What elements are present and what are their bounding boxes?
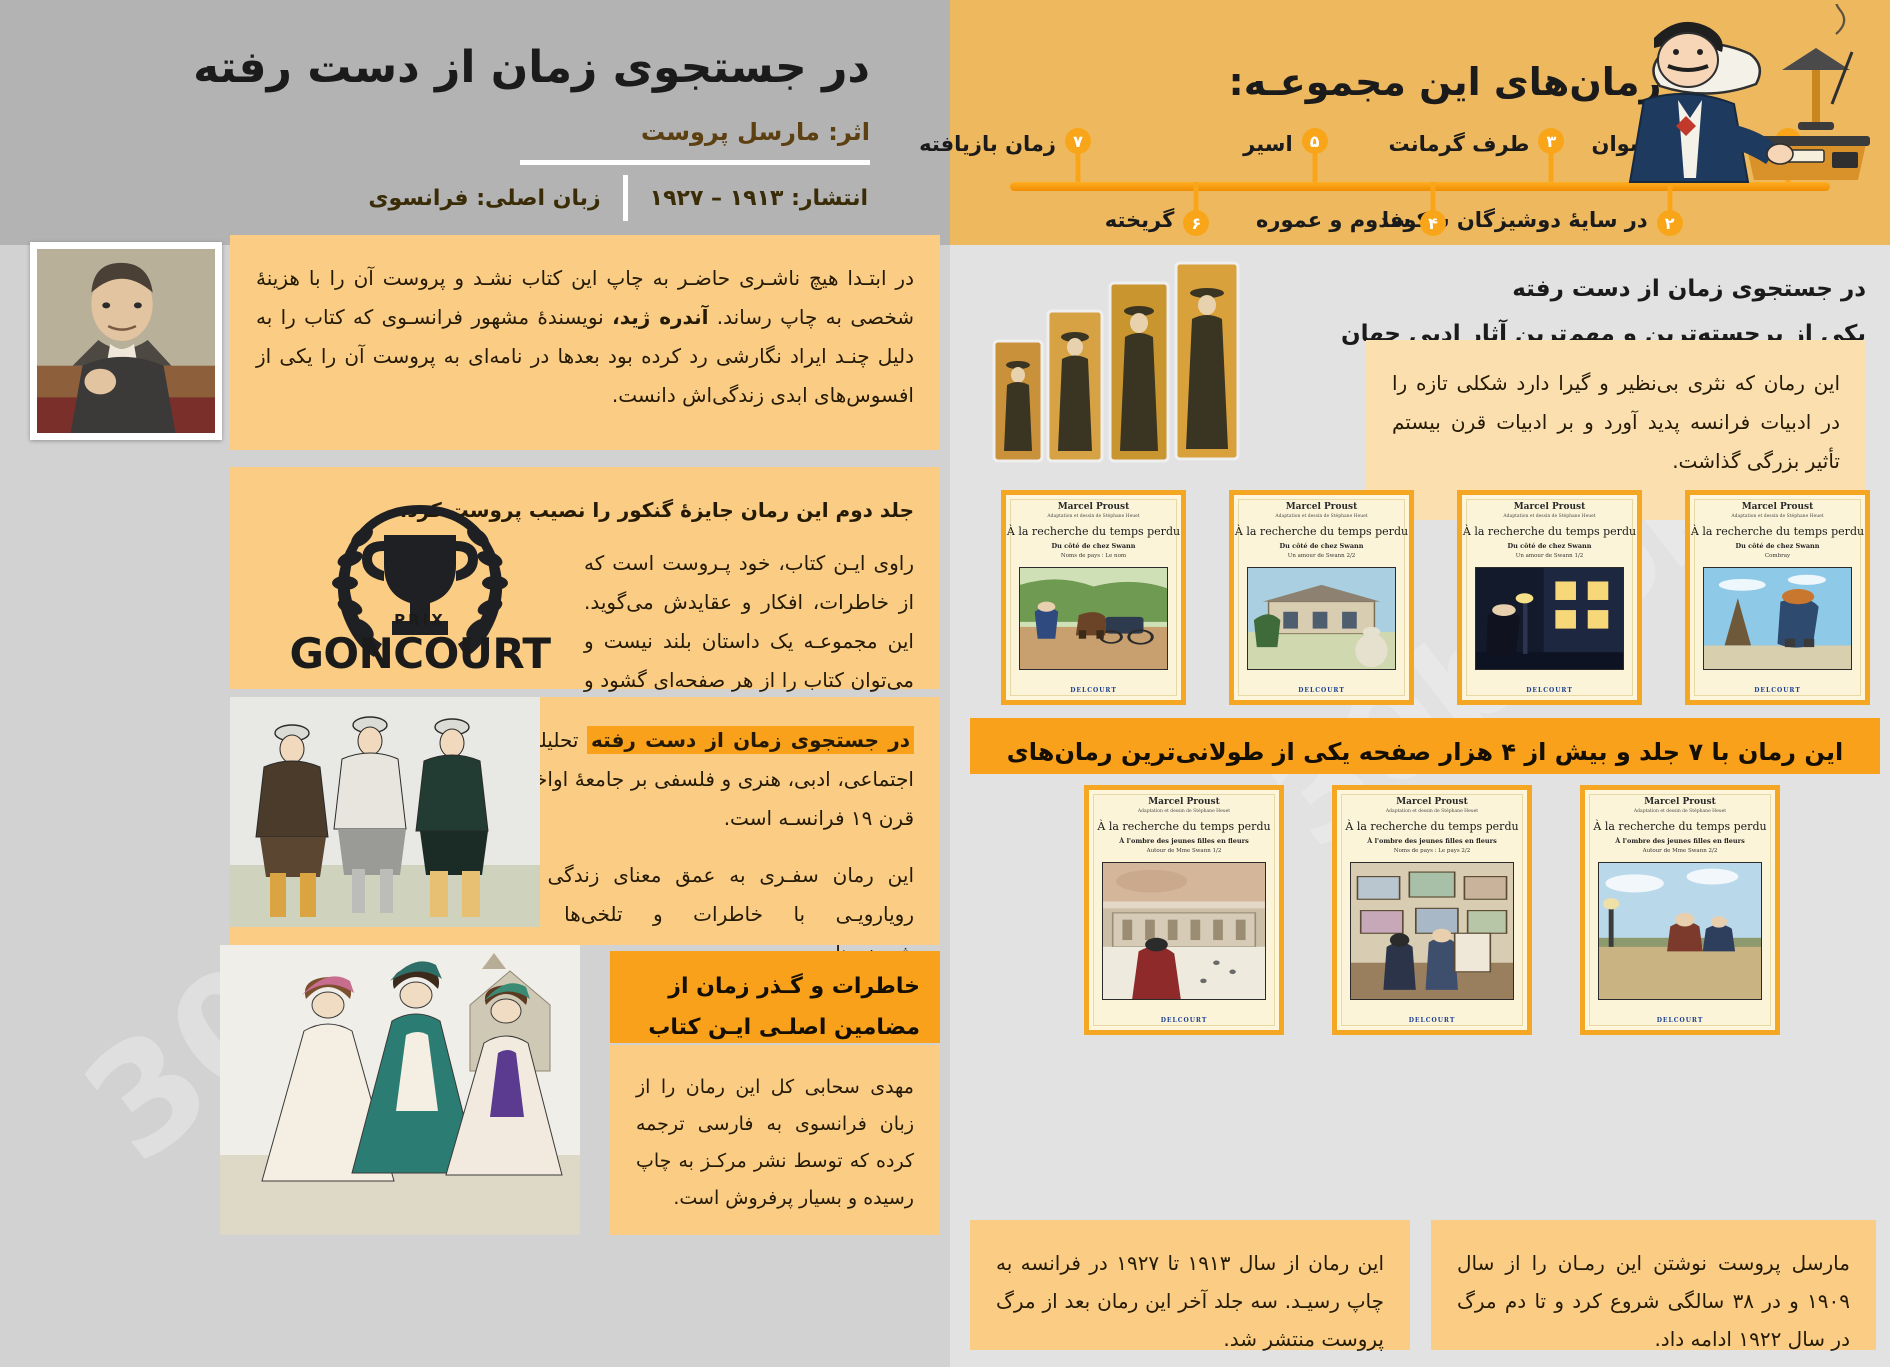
timeline-stem [1312,152,1317,182]
cover-credit: Adaptation et dessin de Stéphane Heuet [1006,514,1181,519]
author-label: اثر: مارسل پروست [180,118,870,146]
timeline-stem [1194,182,1199,212]
cover-publisher-logo: DELCOURT [1089,1017,1279,1024]
cover-subtitle: Du côté de chez Swann [1006,542,1181,550]
proust-figures-strip [970,245,1270,475]
cover-artwork [1102,862,1266,1000]
timeline-stem [1431,182,1436,212]
timeline-label: طرف گرمانت [1389,132,1530,156]
cover-subtitle: À l'ombre des jeunes filles en fleurs [1337,837,1527,845]
intro-line-1: در جستجوی زمان از دست رفته [1306,267,1866,312]
cover-author: Marcel Proust [1089,797,1279,807]
cover-publisher-logo: DELCOURT [1234,687,1409,694]
cover-publisher-logo: DELCOURT [1006,687,1181,694]
victorian-ladies-engraving [220,945,580,1235]
andre-gide-photo [30,242,222,440]
translator-card: مهدی سحابی کل این رمان را از زبان فرانسو… [610,1045,940,1235]
book-cover[interactable]: Marcel ProustAdaptation et dessin de Sté… [1084,785,1284,1035]
cover-artwork [1598,862,1762,1000]
cover-credit: Adaptation et dessin de Stéphane Heuet [1337,809,1527,814]
cover-volume: Un amour de Swann 1/2 [1462,553,1637,559]
theme-title-highlight: در جستجوی زمان از دست رفته [587,726,914,754]
cover-volume: Autour de Mme Swann 2/2 [1585,848,1775,854]
length-banner: این رمان با ۷ جلد و بیش از ۴ هزار صفحه ی… [970,718,1880,774]
meta-row: انتشار: ۱۹۱۳ – ۱۹۲۷ زبان اصلی: فرانسوی [346,170,890,226]
timeline-label: گریخته [1105,208,1175,232]
portrait-illustration [37,249,215,433]
cover-publisher-logo: DELCOURT [1337,1017,1527,1024]
cover-artwork [1019,567,1168,670]
infographic-page: رمان‌های این مجموعـه: ۱طرف خانه سوان۲در … [0,0,1890,1367]
cover-author: Marcel Proust [1690,502,1865,512]
book-cover[interactable]: Marcel ProustAdaptation et dessin de Sté… [1457,490,1642,705]
cover-subtitle: Du côté de chez Swann [1234,542,1409,550]
meta-separator [623,175,628,221]
cover-publisher-logo: DELCOURT [1462,687,1637,694]
publication-history-card: در ابتـدا هیچ ناشـری حاضـر به چاپ این کت… [230,235,940,450]
cover-artwork [1247,567,1396,670]
cover-volume: Un amour de Swann 2/2 [1234,553,1409,559]
timeline-label: سدوم و عموره [1256,208,1411,232]
cover-title: À la recherche du temps perdu [1690,525,1865,538]
left-column: 30book در ابتـدا هیچ ناشـری حاضـر به چاپ… [0,245,950,1367]
goncourt-emblem: PRIX GONCOURT [270,483,570,683]
cover-title: À la recherche du temps perdu [1337,820,1527,833]
title-divider [520,160,870,165]
timeline-number-badge: ۷ [1065,128,1091,154]
cover-author: Marcel Proust [1234,502,1409,512]
cover-title: À la recherche du temps perdu [1585,820,1775,833]
cover-title: À la recherche du temps perdu [1006,525,1181,538]
cover-title: À la recherche du temps perdu [1462,525,1637,538]
publication-years-box: این رمان از سال ۱۹۱۳ تا ۱۹۲۷ در فرانسه ب… [970,1220,1410,1350]
cover-artwork [1475,567,1624,670]
cover-subtitle: À l'ombre des jeunes filles en fleurs [1585,837,1775,845]
goncourt-name-label: GONCOURT [270,629,570,678]
cover-author: Marcel Proust [1462,502,1637,512]
cover-author: Marcel Proust [1585,797,1775,807]
cover-artwork [1350,862,1514,1000]
cover-volume: Noms de pays : Le pays 2/2 [1337,848,1527,854]
top-bar: رمان‌های این مجموعـه: ۱طرف خانه سوان۲در … [0,0,1890,245]
original-language: زبان اصلی: فرانسوی [346,186,622,211]
book-cover[interactable]: Marcel ProustAdaptation et dessin de Sté… [1685,490,1870,705]
themes-banner: خاطرات و گـذر زمان از مضامین اصلـی ایـن … [610,951,940,1043]
timeline-label: اسیر [1243,132,1293,156]
cover-title: À la recherche du temps perdu [1234,525,1409,538]
cover-credit: Adaptation et dessin de Stéphane Heuet [1462,514,1637,519]
cover-credit: Adaptation et dessin de Stéphane Heuet [1234,514,1409,519]
cover-subtitle: Du côté de chez Swann [1690,542,1865,550]
right-column: 30book در جستجوی زمان از دست رفته یکی از… [950,245,1890,1367]
goncourt-prix-label: PRIX [270,611,570,629]
writing-period-box: مارسل پروست نوشتن این رمـان را از سال ۱۹… [1431,1220,1876,1350]
publication-years: انتشار: ۱۹۱۳ – ۱۹۲۷ [628,186,890,211]
cover-title: À la recherche du temps perdu [1089,820,1279,833]
cover-subtitle: À l'ombre des jeunes filles en fleurs [1089,837,1279,845]
timeline-number-badge: ۲ [1657,210,1683,236]
timeline-label: زمان بازیافته [919,132,1056,156]
cover-volume: Noms de pays : Le nom [1006,553,1181,559]
cover-credit: Adaptation et dessin de Stéphane Heuet [1585,809,1775,814]
cover-credit: Adaptation et dessin de Stéphane Heuet [1690,514,1865,519]
proust-writing-illustration [1536,4,1876,204]
cover-subtitle: Du côté de chez Swann [1462,542,1637,550]
book-cover[interactable]: Marcel ProustAdaptation et dessin de Sté… [1001,490,1186,705]
victorian-gentlemen-engraving [230,697,540,927]
page-title: در جستجوی زمان از دست رفته [180,42,870,93]
timeline-number-badge: ۴ [1420,210,1446,236]
gide-name: آندره ژید، [612,305,708,329]
book-cover[interactable]: Marcel ProustAdaptation et dessin de Sté… [1332,785,1532,1035]
cover-volume: Autour de Mme Swann 1/2 [1089,848,1279,854]
cover-artwork [1703,567,1852,670]
cover-credit: Adaptation et dessin de Stéphane Heuet [1089,809,1279,814]
book-cover[interactable]: Marcel ProustAdaptation et dessin de Sté… [1229,490,1414,705]
book-cover[interactable]: Marcel ProustAdaptation et dessin de Sté… [1580,785,1780,1035]
cover-publisher-logo: DELCOURT [1690,687,1865,694]
cover-author: Marcel Proust [1006,502,1181,512]
timeline-stem [1076,152,1081,182]
timeline-number-badge: ۶ [1183,210,1209,236]
cover-volume: Combray [1690,553,1865,559]
cover-publisher-logo: DELCOURT [1585,1017,1775,1024]
cover-author: Marcel Proust [1337,797,1527,807]
timeline-number-badge: ۵ [1302,128,1328,154]
